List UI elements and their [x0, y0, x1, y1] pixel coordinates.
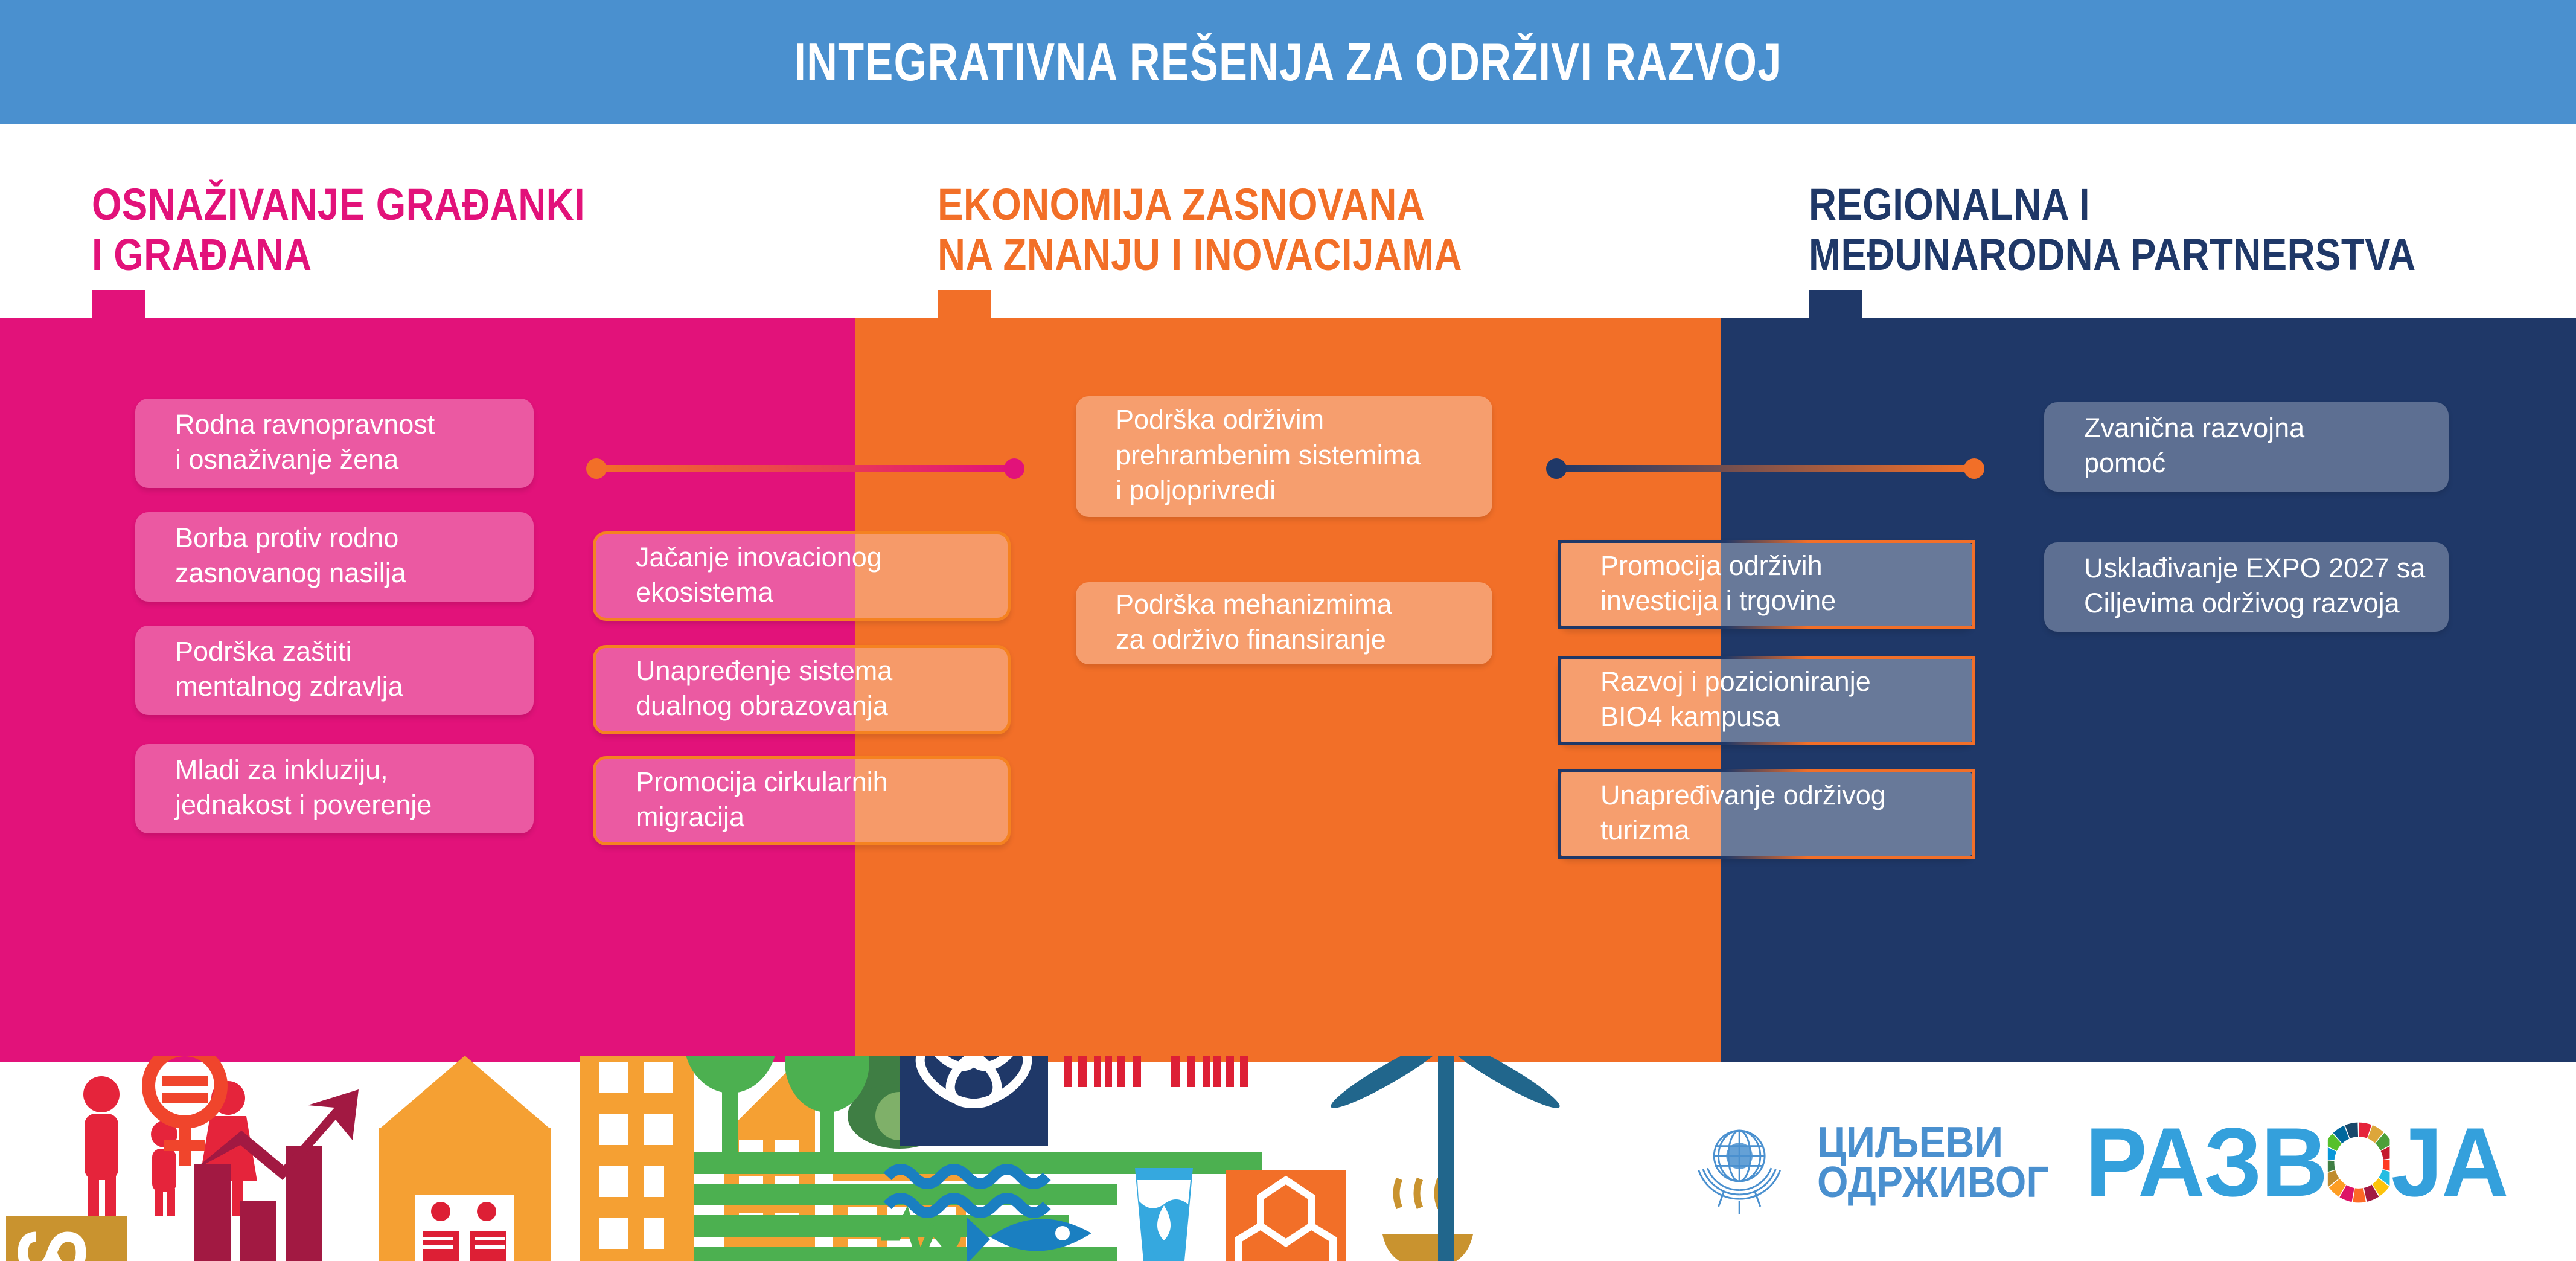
page-title: INTEGRATIVNA REŠENJA ZA ODRŽIVI RAZVOJ [258, 31, 2319, 93]
card-bridge-economy: Jačanje inovacionog ekosistema [593, 531, 1011, 621]
column-heading-empowerment: OSNAŽIVANJE GRAĐANKI I GRAĐANA [92, 180, 585, 280]
connector-dot-right-orange-navy [1964, 458, 1984, 479]
connector-line-orange-navy [1556, 465, 1974, 472]
sdg-logo: ЦИЉЕВИ ОДРЖИВОГ РАЗВ ЈА [1684, 1087, 2530, 1238]
card-economy: Podrška mehanizmima za održivo finansira… [1076, 582, 1492, 664]
card-label: Unapređivanje održivog turizma [1600, 778, 1886, 849]
column-heading-economy: EKONOMIJA ZASNOVANA NA ZNANJU I INOVACIJ… [938, 180, 1462, 280]
card-empowerment: Mladi za inkluziju, jednakost i poverenj… [135, 744, 534, 833]
column-tab-economy [938, 290, 991, 320]
logo-word-ja: ЈА [2391, 1121, 2507, 1204]
card-label: Promocija cirkularnih migracija [636, 765, 888, 835]
column-heading-partnership: REGIONALNA I MEĐUNARODNA PARTNERSTVA [1809, 180, 2416, 280]
card-label: Jačanje inovacionog ekosistema [636, 540, 882, 611]
logo-word-razv: РАЗВ [2085, 1121, 2327, 1204]
logo-line-1: ЦИЉЕВИ [1817, 1123, 2049, 1163]
card-bridge-partnership: Promocija održivih investicija i trgovin… [1558, 540, 1975, 629]
card-label: Podrška zaštiti mentalnog zdravlja [175, 634, 403, 705]
card-label: Borba protiv rodno zasnovanog nasilja [175, 521, 406, 591]
card-label: Razvoj i pozicioniranje BIO4 kampusa [1600, 664, 1871, 735]
card-label: Mladi za inkluziju, jednakost i poverenj… [175, 752, 432, 823]
card-label: Unapređenje sistema dualnog obrazovanja [636, 653, 892, 724]
column-tab-partnership [1809, 290, 1862, 320]
card-label: Podrška održivim prehrambenim sistemima … [1116, 402, 1421, 509]
card-partnership: Zvanična razvojna pomoć [2044, 402, 2449, 492]
card-label: Zvanična razvojna pomoć [2084, 411, 2304, 481]
card-empowerment: Rodna ravnopravnost i osnaživanje žena [135, 399, 534, 488]
card-empowerment: Podrška zaštiti mentalnog zdravlja [135, 626, 534, 715]
card-bridge-economy: Promocija cirkularnih migracija [593, 756, 1011, 845]
card-label: Rodna ravnopravnost i osnaživanje žena [175, 407, 435, 478]
un-emblem-icon [1684, 1093, 1794, 1232]
card-bridge-economy: Unapređenje sistema dualnog obrazovanja [593, 645, 1011, 734]
card-bridge-partnership: Razvoj i pozicioniranje BIO4 kampusa [1558, 656, 1975, 745]
connector-line-pink-orange [596, 465, 1014, 472]
sdg-colour-wheel-icon [2328, 1117, 2390, 1208]
connector-dot-right-pink-orange [1004, 458, 1024, 479]
column-tab-empowerment [92, 290, 145, 320]
card-label: Usklađivanje EXPO 2027 sa Ciljevima održ… [2084, 551, 2425, 621]
connector-dot-left-pink-orange [586, 458, 607, 479]
card-label: Promocija održivih investicija i trgovin… [1600, 548, 1836, 619]
card-economy: Podrška održivim prehrambenim sistemima … [1076, 396, 1492, 517]
card-partnership: Usklađivanje EXPO 2027 sa Ciljevima održ… [2044, 542, 2449, 632]
connector-dot-left-orange-navy [1546, 458, 1567, 479]
card-label: Podrška mehanizmima za održivo finansira… [1116, 587, 1392, 658]
card-bridge-partnership: Unapređivanje održivog turizma [1558, 769, 1975, 859]
logo-line-2: ОДРЖИВОГ [1817, 1163, 2049, 1202]
card-empowerment: Borba protiv rodno zasnovanog nasilja [135, 512, 534, 602]
